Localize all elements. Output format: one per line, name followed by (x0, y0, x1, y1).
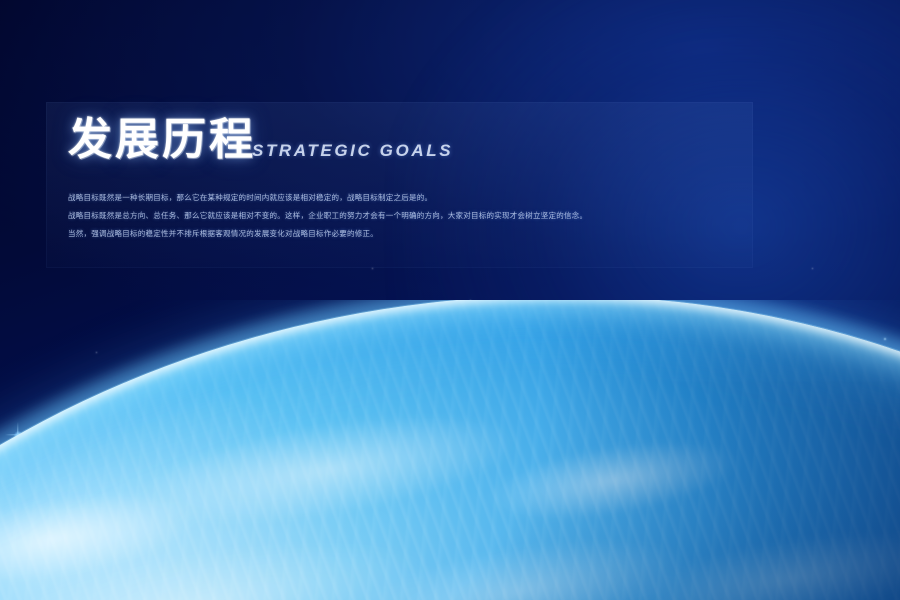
body-line: 战略目标既然是一种长期目标，那么它在某种规定的时间内就应该是相对稳定的，战略目标… (68, 189, 768, 207)
hero-banner: 发展历程 STRATEGIC GOALS 战略目标既然是一种长期目标，那么它在某… (0, 0, 900, 600)
body-line: 当然，强调战略目标的稳定性并不排斥根据客观情况的发展变化对战略目标作必要的修正。 (68, 225, 768, 243)
body-line: 战略目标既然是总方向、总任务、那么它就应该是相对不变的。这样，企业职工的努力才会… (68, 207, 768, 225)
body-copy: 战略目标既然是一种长期目标，那么它在某种规定的时间内就应该是相对稳定的，战略目标… (68, 189, 768, 243)
page-subtitle: STRATEGIC GOALS (252, 141, 453, 161)
page-title: 发展历程 (68, 118, 256, 162)
title-block: 发展历程 STRATEGIC GOALS (68, 118, 453, 162)
